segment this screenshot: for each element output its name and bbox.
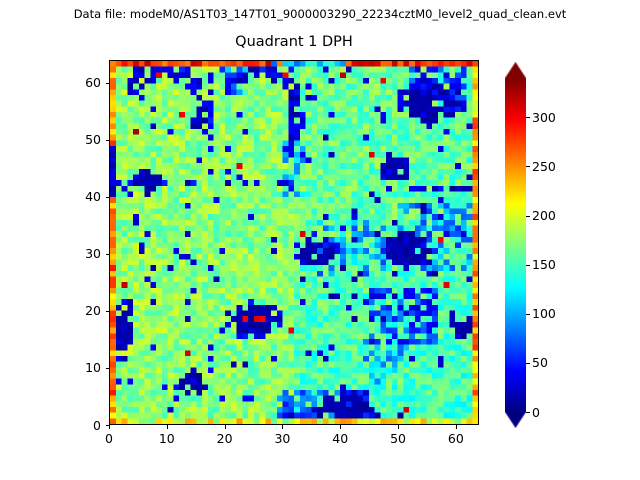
colorbar-tick-mark <box>526 412 530 413</box>
x-tick-mark <box>225 425 226 429</box>
colorbar-tick-mark <box>526 216 530 217</box>
colorbar[interactable] <box>505 62 526 428</box>
colorbar-tick-label: 100 <box>532 306 556 321</box>
x-tick-mark <box>109 425 110 429</box>
y-tick-mark <box>106 197 110 198</box>
colorbar-tick-label: 0 <box>532 405 540 420</box>
colorbar-tick-mark <box>526 166 530 167</box>
colorbar-tick-label: 200 <box>532 208 556 223</box>
x-tick-mark <box>456 425 457 429</box>
x-tick-label: 0 <box>79 431 139 446</box>
y-tick-mark <box>106 311 110 312</box>
y-tick-label: 10 <box>56 360 101 375</box>
y-tick-label: 50 <box>56 132 101 147</box>
colorbar-tick-mark <box>526 363 530 364</box>
x-tick-mark <box>398 425 399 429</box>
x-tick-label: 60 <box>426 431 486 446</box>
x-tick-mark <box>340 425 341 429</box>
figure-canvas: Data file: modeM0/AS1T03_147T01_90000032… <box>0 0 640 480</box>
y-tick-label: 0 <box>56 418 101 433</box>
x-tick-label: 10 <box>137 431 197 446</box>
y-tick-label: 60 <box>56 75 101 90</box>
heatmap-axes[interactable] <box>109 60 479 425</box>
y-tick-mark <box>106 254 110 255</box>
y-tick-mark <box>106 368 110 369</box>
colorbar-tick-mark <box>526 314 530 315</box>
x-tick-mark <box>282 425 283 429</box>
colorbar-tick-mark <box>526 265 530 266</box>
y-tick-mark <box>106 140 110 141</box>
y-tick-mark <box>106 83 110 84</box>
data-file-caption: Data file: modeM0/AS1T03_147T01_90000032… <box>0 7 640 21</box>
x-tick-label: 20 <box>195 431 255 446</box>
colorbar-tick-label: 150 <box>532 257 556 272</box>
colorbar-tick-label: 300 <box>532 110 556 125</box>
y-tick-label: 20 <box>56 303 101 318</box>
colorbar-tick-mark <box>526 117 530 118</box>
y-tick-label: 40 <box>56 189 101 204</box>
x-tick-mark <box>167 425 168 429</box>
plot-title: Quadrant 1 DPH <box>109 33 479 51</box>
colorbar-tick-label: 50 <box>532 355 548 370</box>
colorbar-gradient <box>505 62 526 428</box>
x-tick-label: 30 <box>252 431 312 446</box>
x-tick-label: 50 <box>368 431 428 446</box>
x-tick-label: 40 <box>310 431 370 446</box>
y-tick-mark <box>106 425 110 426</box>
heatmap-image <box>110 61 478 424</box>
colorbar-tick-label: 250 <box>532 159 556 174</box>
y-tick-label: 30 <box>56 246 101 261</box>
